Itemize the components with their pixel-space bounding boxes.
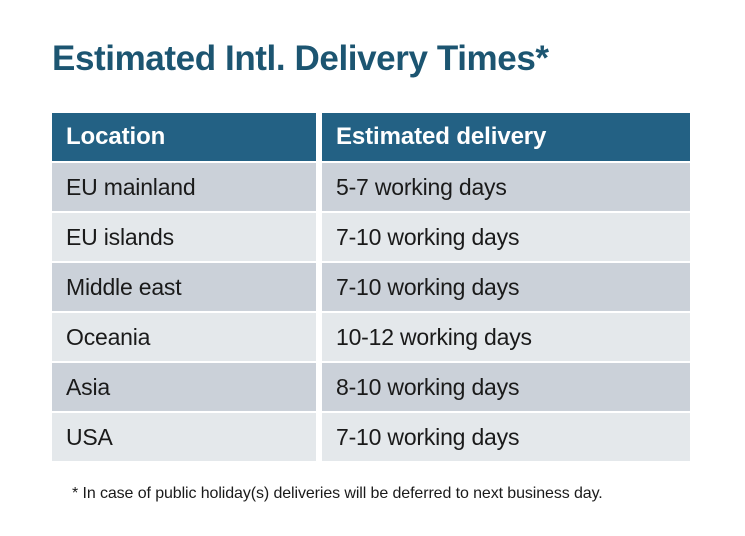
footnote-text: * In case of public holiday(s) deliverie… [72,483,603,505]
page-title: Estimated Intl. Delivery Times* [52,37,549,81]
cell-estimated-delivery: 5-7 working days [322,163,690,211]
cell-location: USA [52,413,316,461]
delivery-times-table: Location Estimated delivery EU mainland … [52,113,690,463]
table-row: EU mainland 5-7 working days [52,163,690,211]
cell-location: Middle east [52,263,316,311]
cell-location: EU islands [52,213,316,261]
table-row: Asia 8-10 working days [52,363,690,411]
cell-location: Asia [52,363,316,411]
cell-estimated-delivery: 7-10 working days [322,213,690,261]
cell-location: EU mainland [52,163,316,211]
table-header-row: Location Estimated delivery [52,113,690,161]
cell-location: Oceania [52,313,316,361]
cell-estimated-delivery: 7-10 working days [322,413,690,461]
table-row: USA 7-10 working days [52,413,690,461]
column-header-estimated-delivery: Estimated delivery [322,113,690,161]
delivery-times-card: Estimated Intl. Delivery Times* Location… [0,0,745,536]
cell-estimated-delivery: 8-10 working days [322,363,690,411]
column-header-location: Location [52,113,316,161]
cell-estimated-delivery: 7-10 working days [322,263,690,311]
table-row: Oceania 10-12 working days [52,313,690,361]
cell-estimated-delivery: 10-12 working days [322,313,690,361]
table-row: Middle east 7-10 working days [52,263,690,311]
table-row: EU islands 7-10 working days [52,213,690,261]
